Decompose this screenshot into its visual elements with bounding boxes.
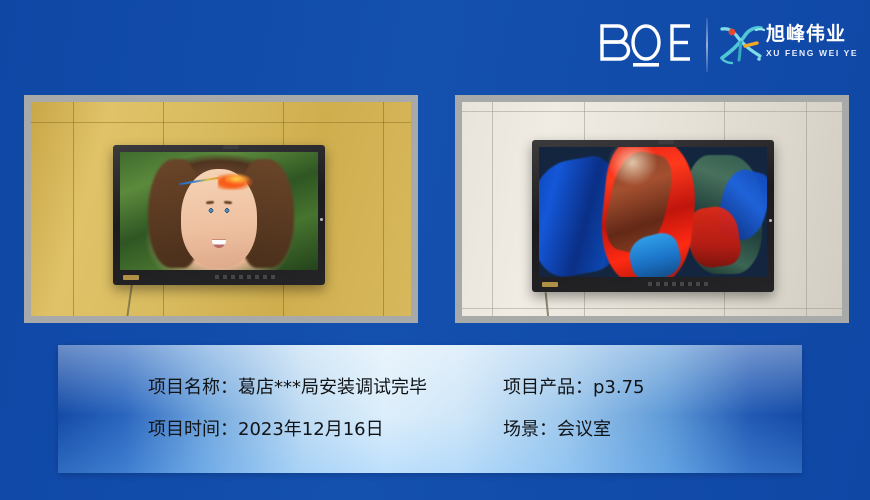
screen-left: [120, 152, 318, 270]
power-led: [320, 218, 323, 221]
camera-strip: [658, 140, 674, 144]
photo-left: [24, 95, 418, 323]
wall-seam: [31, 122, 411, 123]
bezel-chin: [539, 279, 767, 289]
caption-line-project-name: 项目名称：葛店***局安装调试完毕: [148, 367, 427, 409]
wall-seam: [806, 102, 807, 316]
xufeng-bird-icon: [716, 22, 766, 68]
value-project-name: 葛店***局安装调试完毕: [238, 377, 427, 398]
value-product: p3.75: [593, 377, 645, 398]
caption-column-right: 项目产品：p3.75 场景：会议室: [503, 367, 645, 451]
wall-seam: [462, 111, 842, 112]
wall-seam: [73, 102, 74, 316]
value-project-date: 2023年12月16日: [238, 419, 384, 440]
feather-graphic: [179, 171, 262, 190]
xufeng-name-en: XU FENG WEI YE: [766, 47, 862, 59]
bezel-chin: [120, 272, 318, 282]
label-product: 项目产品：: [503, 377, 593, 398]
wall-seam: [492, 102, 493, 316]
slide-canvas: 旭峰伟业 XU FENG WEI YE: [0, 0, 870, 500]
caption-line-project-date: 项目时间：2023年12月16日: [148, 409, 427, 451]
label-project-name: 项目名称：: [148, 377, 238, 398]
power-led: [769, 219, 772, 222]
value-scene: 会议室: [557, 419, 611, 440]
logo-bar: 旭峰伟业 XU FENG WEI YE: [0, 0, 870, 90]
caption-panel: 项目名称：葛店***局安装调试完毕 项目时间：2023年12月16日 项目产品：…: [58, 345, 802, 473]
caption-column-left: 项目名称：葛店***局安装调试完毕 项目时间：2023年12月16日: [148, 367, 427, 451]
caption-line-product: 项目产品：p3.75: [503, 367, 645, 409]
wall-seam: [462, 308, 842, 309]
camera-strip: [223, 145, 239, 149]
logo-divider: [706, 18, 708, 72]
label-scene: 场景：: [503, 419, 557, 440]
display-panel-right: [532, 140, 774, 292]
wall-seam: [383, 102, 384, 316]
display-panel-left: [113, 145, 325, 285]
photo-right: [455, 95, 849, 323]
caption-line-scene: 场景：会议室: [503, 409, 645, 451]
boe-logo: [598, 22, 696, 68]
label-project-date: 项目时间：: [148, 419, 238, 440]
xufeng-wordmark: 旭峰伟业 XU FENG WEI YE: [766, 22, 862, 59]
screen-right: [539, 147, 767, 277]
xufeng-name-cn: 旭峰伟业: [766, 22, 862, 46]
